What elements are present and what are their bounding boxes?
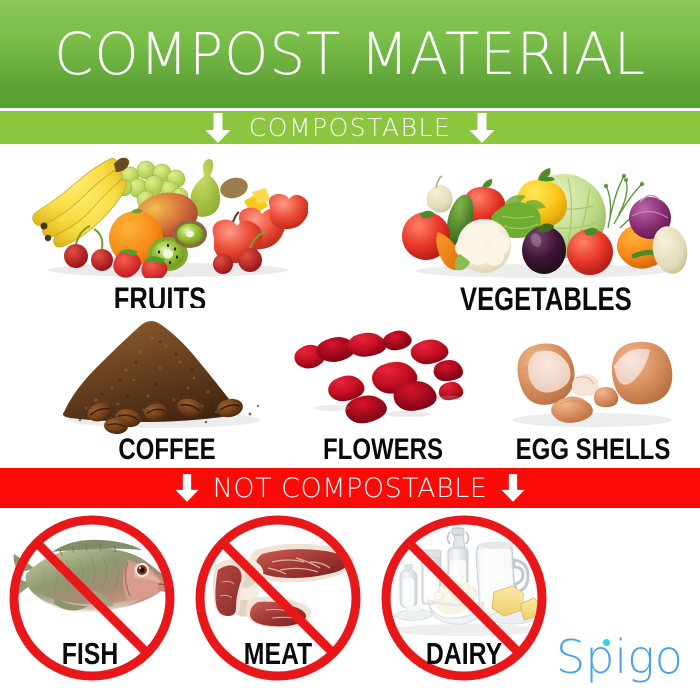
coffee-label: COFFEE	[83, 435, 251, 465]
arrow-down-icon	[205, 113, 231, 143]
not-compostable-banner: NOT COMPOSTABLE	[0, 468, 700, 508]
vegetables-image	[392, 158, 688, 280]
dairy-label: DAIRY	[384, 638, 544, 669]
vegetables-label: VEGETABLES	[460, 283, 620, 315]
flowers-label: FLOWERS	[307, 435, 459, 465]
fruits-photo	[18, 146, 308, 278]
egg-shells-image	[496, 316, 688, 432]
compost-material-poster: COMPOST MATERIAL COMPOSTABLE	[0, 0, 700, 700]
coffee-grounds-photo	[56, 308, 276, 434]
compostable-banner-label: COMPOSTABLE	[249, 115, 451, 140]
fish-label: FISH	[10, 638, 170, 669]
not-compostable-banner-label: NOT COMPOSTABLE	[213, 475, 488, 502]
egg-shells-photo	[496, 316, 688, 432]
arrow-down-icon	[175, 473, 199, 503]
brand-logo-text: Spigo	[556, 630, 683, 684]
meat-label: MEAT	[198, 638, 358, 669]
coffee-image	[56, 308, 276, 434]
compostable-banner: COMPOSTABLE	[0, 111, 700, 144]
brand-logo: Spigo	[556, 634, 683, 680]
poster-title-bar: COMPOST MATERIAL	[0, 0, 700, 108]
flowers-image	[292, 322, 468, 432]
vegetables-photo	[392, 158, 688, 280]
page-title: COMPOST MATERIAL	[54, 25, 646, 83]
egg-shells-label: EGG SHELLS	[509, 435, 677, 465]
arrow-down-icon	[501, 473, 525, 503]
arrow-down-icon	[469, 113, 495, 143]
fruits-image	[18, 146, 308, 278]
rose-petals-photo	[292, 322, 468, 432]
logo-dot-icon	[603, 639, 610, 646]
